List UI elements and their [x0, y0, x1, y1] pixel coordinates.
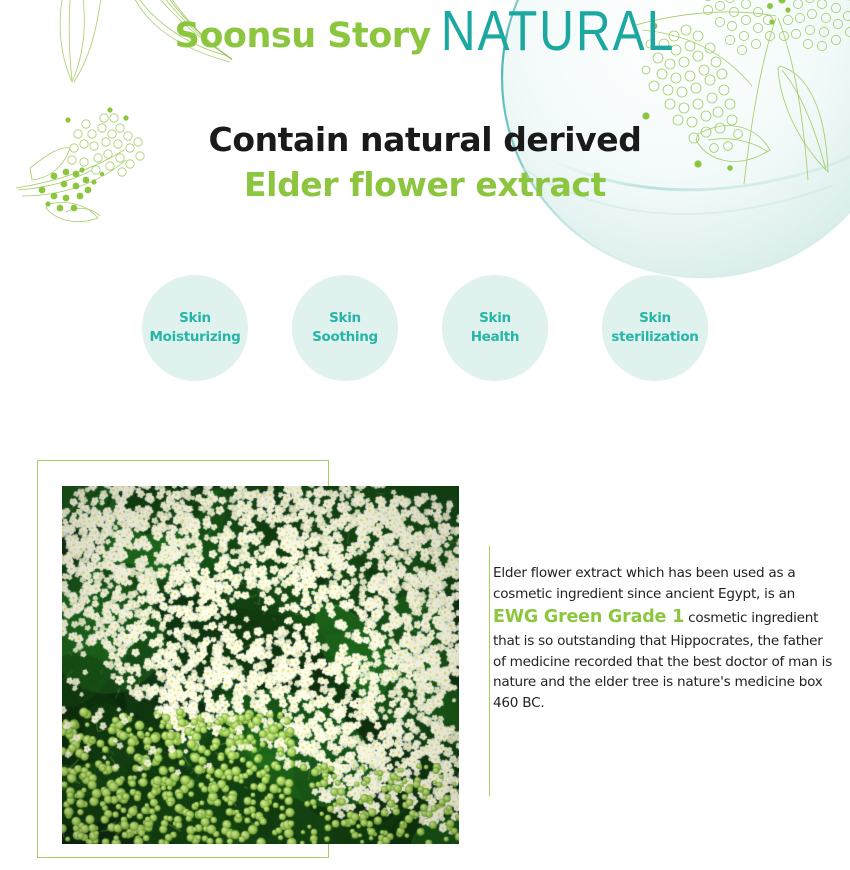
headline-line-2: Elder flower extract	[0, 163, 850, 208]
elderflower-photo	[62, 486, 459, 844]
page-title: Soonsu StoryNATURAL	[0, 4, 850, 59]
benefit-circle-group: Skin Moisturizing Skin Soothing Skin Hea…	[0, 275, 850, 385]
benefit-label-skin-sterilization: Skin sterilization	[607, 309, 702, 347]
ewg-grade-highlight: EWG Green Grade 1	[493, 607, 684, 627]
headline-line-1: Contain natural derived	[0, 118, 850, 163]
brand-name: Soonsu Story	[175, 16, 431, 56]
benefit-circle-skin-sterilization[interactable]: Skin sterilization	[602, 275, 708, 381]
benefit-label-skin-soothing: Skin Soothing	[308, 309, 382, 347]
brand-word-natural: NATURAL	[441, 0, 675, 64]
headline-block: Contain natural derived Elder flower ext…	[0, 118, 850, 207]
benefit-circle-skin-moisturizing[interactable]: Skin Moisturizing	[142, 275, 248, 381]
page-root: Soonsu StoryNATURAL Contain natural deri…	[0, 0, 850, 870]
benefit-circle-skin-soothing[interactable]: Skin Soothing	[292, 275, 398, 381]
text-divider-rule	[489, 546, 490, 796]
benefit-label-skin-health: Skin Health	[467, 309, 523, 347]
description-paragraph: Elder flower extract which has been used…	[493, 563, 833, 714]
photo-canvas	[62, 486, 459, 844]
benefit-circle-skin-health[interactable]: Skin Health	[442, 275, 548, 381]
benefit-label-skin-moisturizing: Skin Moisturizing	[146, 309, 245, 347]
description-part-1: Elder flower extract which has been used…	[493, 565, 795, 602]
